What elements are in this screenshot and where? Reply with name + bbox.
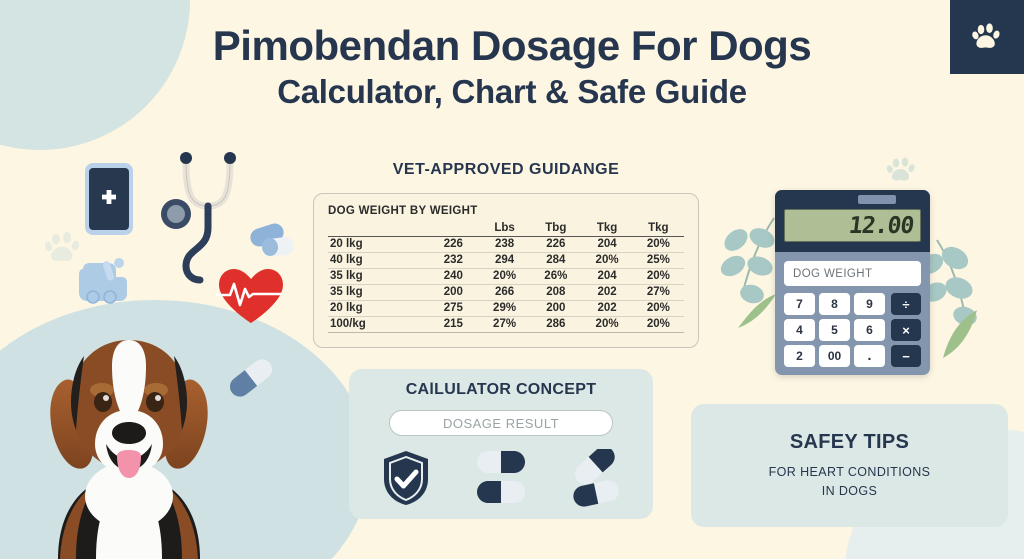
solar-cell	[858, 195, 896, 204]
key-decimal-point[interactable]: .	[854, 345, 885, 367]
happy-dog-illustration	[18, 318, 240, 559]
cell-c1: 240	[428, 268, 479, 284]
col-head-4: Tkg	[581, 220, 632, 236]
cell-weight: 20 lkg	[328, 236, 428, 252]
table-title: DOG WEIGHT BY WEIGHT	[328, 205, 684, 217]
cell-c2: 238	[479, 236, 530, 252]
dosage-result-placeholder: DOSAGE RESULT	[443, 416, 559, 431]
concept-title: CAlLULATOR CONCEPT	[349, 381, 653, 399]
cell-c4: 202	[581, 300, 632, 316]
table-row: 35 lkg 240 20% 26% 204 20%	[328, 268, 684, 284]
table-row: 20 lkg 226 238 226 204 20%	[328, 236, 684, 252]
cell-c5: 25%	[633, 252, 684, 268]
cell-c3: 26%	[530, 268, 581, 284]
cell-weight: 20 lkg	[328, 300, 428, 316]
calculator-top-panel: 12.00	[775, 190, 930, 252]
safety-subtitle-line1: FOR HEART CONDITIONS	[769, 465, 931, 479]
page-title: Pimobendan Dosage For Dogs	[0, 24, 1024, 68]
calculator-concept-panel: CAlLULATOR CONCEPT DOSAGE RESULT	[349, 369, 653, 519]
cell-c3: 226	[530, 236, 581, 252]
key-7[interactable]: 7	[784, 293, 815, 315]
cell-weight: 35 lkg	[328, 284, 428, 300]
cell-c4: 202	[581, 284, 632, 300]
concept-icon-row	[349, 449, 653, 507]
safety-tips-panel: SAFEY TIPS FOR HEART CONDITIONS IN DOGS	[691, 404, 1008, 527]
dosage-table: Lbs Tbg Tkg Tkg 20 lkg 226 238 226 204 2…	[328, 220, 684, 333]
dosage-result-field[interactable]: DOSAGE RESULT	[389, 410, 613, 436]
table-row: 100/kg 215 27% 286 20% 20%	[328, 316, 684, 332]
cell-weight: 35 lkg	[328, 268, 428, 284]
safety-subtitle-line2: IN DOGS	[822, 484, 878, 498]
cell-c4: 204	[581, 236, 632, 252]
cell-c5: 20%	[633, 236, 684, 252]
cell-c3: 284	[530, 252, 581, 268]
page-subtitle: Calculator, Chart & Safe Guide	[0, 75, 1024, 110]
cell-c2: 27%	[479, 316, 530, 332]
key-8[interactable]: 8	[819, 293, 850, 315]
cell-c2: 294	[479, 252, 530, 268]
cell-c1: 200	[428, 284, 479, 300]
key-double-zero[interactable]: 00	[819, 345, 850, 367]
header: Pimobendan Dosage For Dogs Calculator, C…	[0, 24, 1024, 110]
cell-c3: 208	[530, 284, 581, 300]
cell-c5: 20%	[633, 300, 684, 316]
safety-subtitle: FOR HEART CONDITIONS IN DOGS	[769, 463, 931, 499]
phone-screen	[89, 168, 129, 230]
table-row: 20 lkg 275 29% 200 202 20%	[328, 300, 684, 316]
col-head-1	[428, 220, 479, 236]
capsule-tilted-icon	[570, 449, 622, 507]
calculator-keypad: 7 8 9 4 5 6 2 00 . ÷ × −	[775, 293, 930, 375]
multiply-button[interactable]: ×	[891, 319, 921, 341]
safety-title: SAFEY TIPS	[790, 431, 909, 454]
cell-weight: 100/kg	[328, 316, 428, 332]
cell-c5: 27%	[633, 284, 684, 300]
calculator-widget[interactable]: 12.00 DOG WEIGHT 7 8 9 4 5 6 2 00 . ÷ × …	[775, 190, 930, 375]
divide-button[interactable]: ÷	[891, 293, 921, 315]
cell-c3: 286	[530, 316, 581, 332]
table-row: 35 lkg 200 266 208 202 27%	[328, 284, 684, 300]
minus-button[interactable]: −	[891, 345, 921, 367]
table-row: 40 lkg 232 294 284 20% 25%	[328, 252, 684, 268]
col-head-5: Tkg	[633, 220, 684, 236]
infographic-canvas: Pimobendan Dosage For Dogs Calculator, C…	[0, 0, 1024, 559]
cell-c2: 20%	[479, 268, 530, 284]
cell-c5: 20%	[633, 316, 684, 332]
col-head-0	[328, 220, 428, 236]
cell-c4: 204	[581, 268, 632, 284]
table-body: 20 lkg 226 238 226 204 20% 40 lkg 232 29…	[328, 236, 684, 332]
calculator-display: 12.00	[784, 209, 921, 242]
cell-c1: 226	[428, 236, 479, 252]
cell-c4: 20%	[581, 316, 632, 332]
medical-cross-icon	[98, 188, 120, 210]
table-header: Lbs Tbg Tkg Tkg	[328, 220, 684, 236]
cell-c1: 215	[428, 316, 479, 332]
cell-c2: 29%	[479, 300, 530, 316]
key-9[interactable]: 9	[854, 293, 885, 315]
cell-c4: 20%	[581, 252, 632, 268]
key-5[interactable]: 5	[819, 319, 850, 341]
shield-check-icon	[380, 449, 432, 507]
cell-c1: 232	[428, 252, 479, 268]
dog-weight-placeholder: DOG WEIGHT	[793, 268, 872, 280]
medical-phone-illustration	[85, 163, 133, 235]
col-head-2: Lbs	[479, 220, 530, 236]
key-6[interactable]: 6	[854, 319, 885, 341]
cell-c2: 266	[479, 284, 530, 300]
table-section-heading: VET-APPROVED GUIDANGE	[312, 161, 700, 179]
eucalyptus-leaf-icon	[925, 230, 1005, 360]
cell-c1: 275	[428, 300, 479, 316]
col-head-3: Tbg	[530, 220, 581, 236]
number-keys: 7 8 9 4 5 6 2 00 .	[784, 293, 885, 367]
cell-c3: 200	[530, 300, 581, 316]
cell-weight: 40 lkg	[328, 252, 428, 268]
pills-icon	[248, 222, 298, 266]
operator-keys: ÷ × −	[891, 293, 921, 367]
cell-c5: 20%	[633, 268, 684, 284]
paw-print-icon	[885, 155, 919, 187]
dosage-table-card: DOG WEIGHT BY WEIGHT Lbs Tbg Tkg Tkg 20 …	[313, 193, 699, 348]
key-4[interactable]: 4	[784, 319, 815, 341]
capsule-pair-icon	[476, 449, 526, 507]
table-header-row: Lbs Tbg Tkg Tkg	[328, 220, 684, 236]
key-2[interactable]: 2	[784, 345, 815, 367]
medical-device-illustration	[75, 253, 133, 315]
dog-weight-input[interactable]: DOG WEIGHT	[784, 261, 921, 286]
display-value: 12.00	[847, 213, 914, 239]
